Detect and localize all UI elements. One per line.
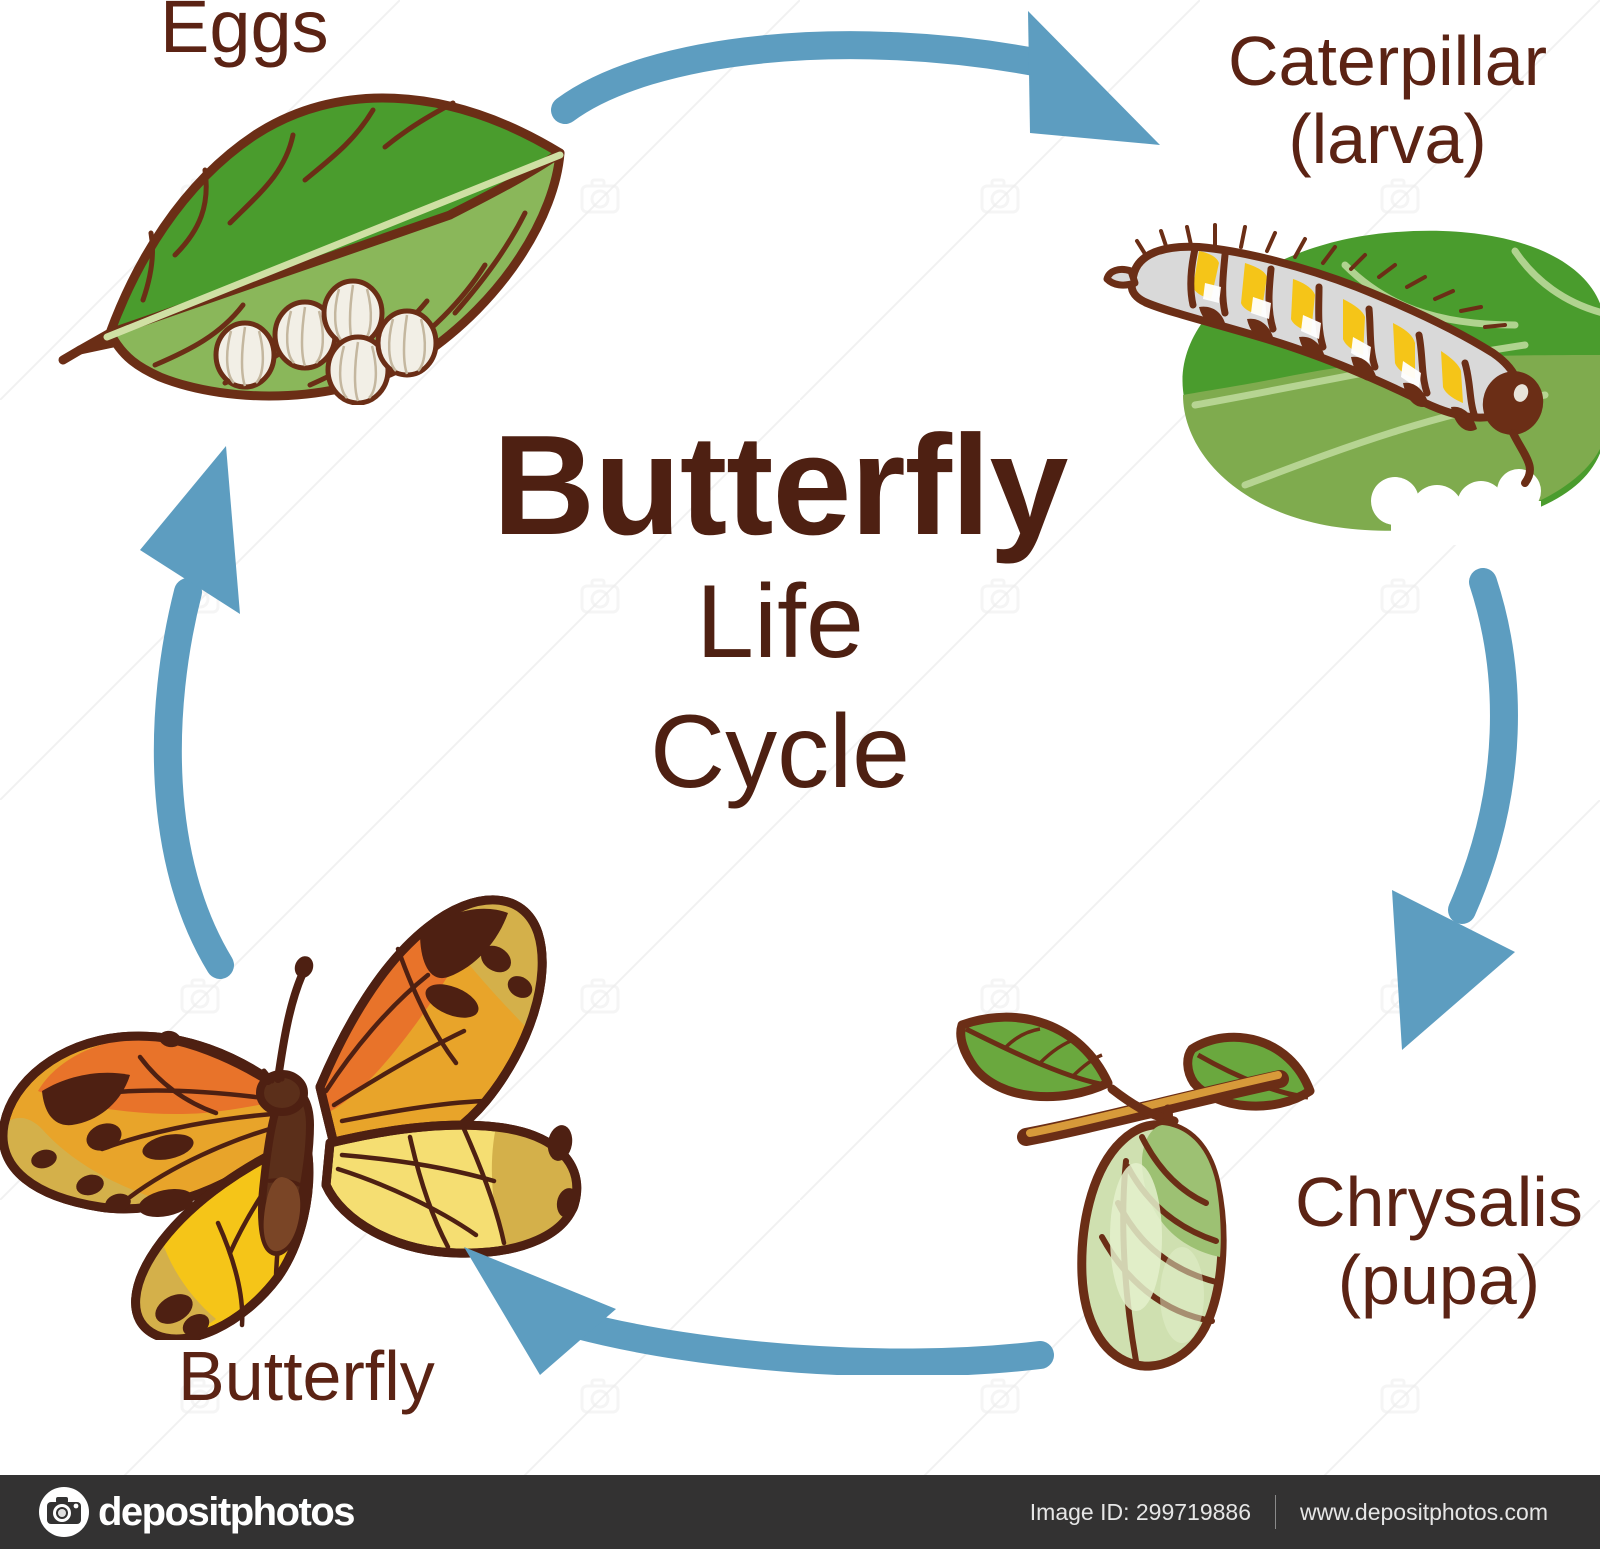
image-id-text: Image ID: 299719886 xyxy=(1030,1499,1251,1526)
camera-icon xyxy=(38,1486,90,1538)
arrow-butterfly-to-eggs xyxy=(140,420,340,990)
stage-label-chrysalis: Chrysalis (pupa) xyxy=(1295,1163,1583,1320)
arrow-eggs-to-caterpillar xyxy=(520,5,1220,165)
page-title: Butterfly Life Cycle xyxy=(430,415,1130,817)
website-url-text: www.depositphotos.com xyxy=(1300,1499,1548,1526)
arrow-caterpillar-to-chrysalis xyxy=(1340,550,1560,1070)
depositphotos-logo: depositphotos xyxy=(38,1486,354,1538)
butterfly-life-cycle-diagram: Butterfly Life Cycle Eggs Caterpillar (l… xyxy=(0,0,1600,1549)
stage-label-butterfly: Butterfly xyxy=(178,1337,435,1415)
arrow-chrysalis-to-butterfly xyxy=(430,1185,1070,1375)
brand-name: depositphotos xyxy=(98,1490,354,1535)
banner-divider xyxy=(1275,1495,1276,1529)
eggs-on-leaf-illustration xyxy=(55,65,585,405)
title-third-line: Cycle xyxy=(430,687,1130,817)
title-main-line: Butterfly xyxy=(430,415,1130,557)
stage-label-eggs: Eggs xyxy=(160,0,329,69)
stage-label-caterpillar: Caterpillar (larva) xyxy=(1228,22,1547,179)
stock-photo-banner: depositphotos Image ID: 299719886 www.de… xyxy=(0,1475,1600,1549)
caterpillar-illustration xyxy=(1095,205,1600,545)
banner-meta: Image ID: 299719886 www.depositphotos.co… xyxy=(1030,1495,1548,1529)
title-second-line: Life xyxy=(430,557,1130,687)
